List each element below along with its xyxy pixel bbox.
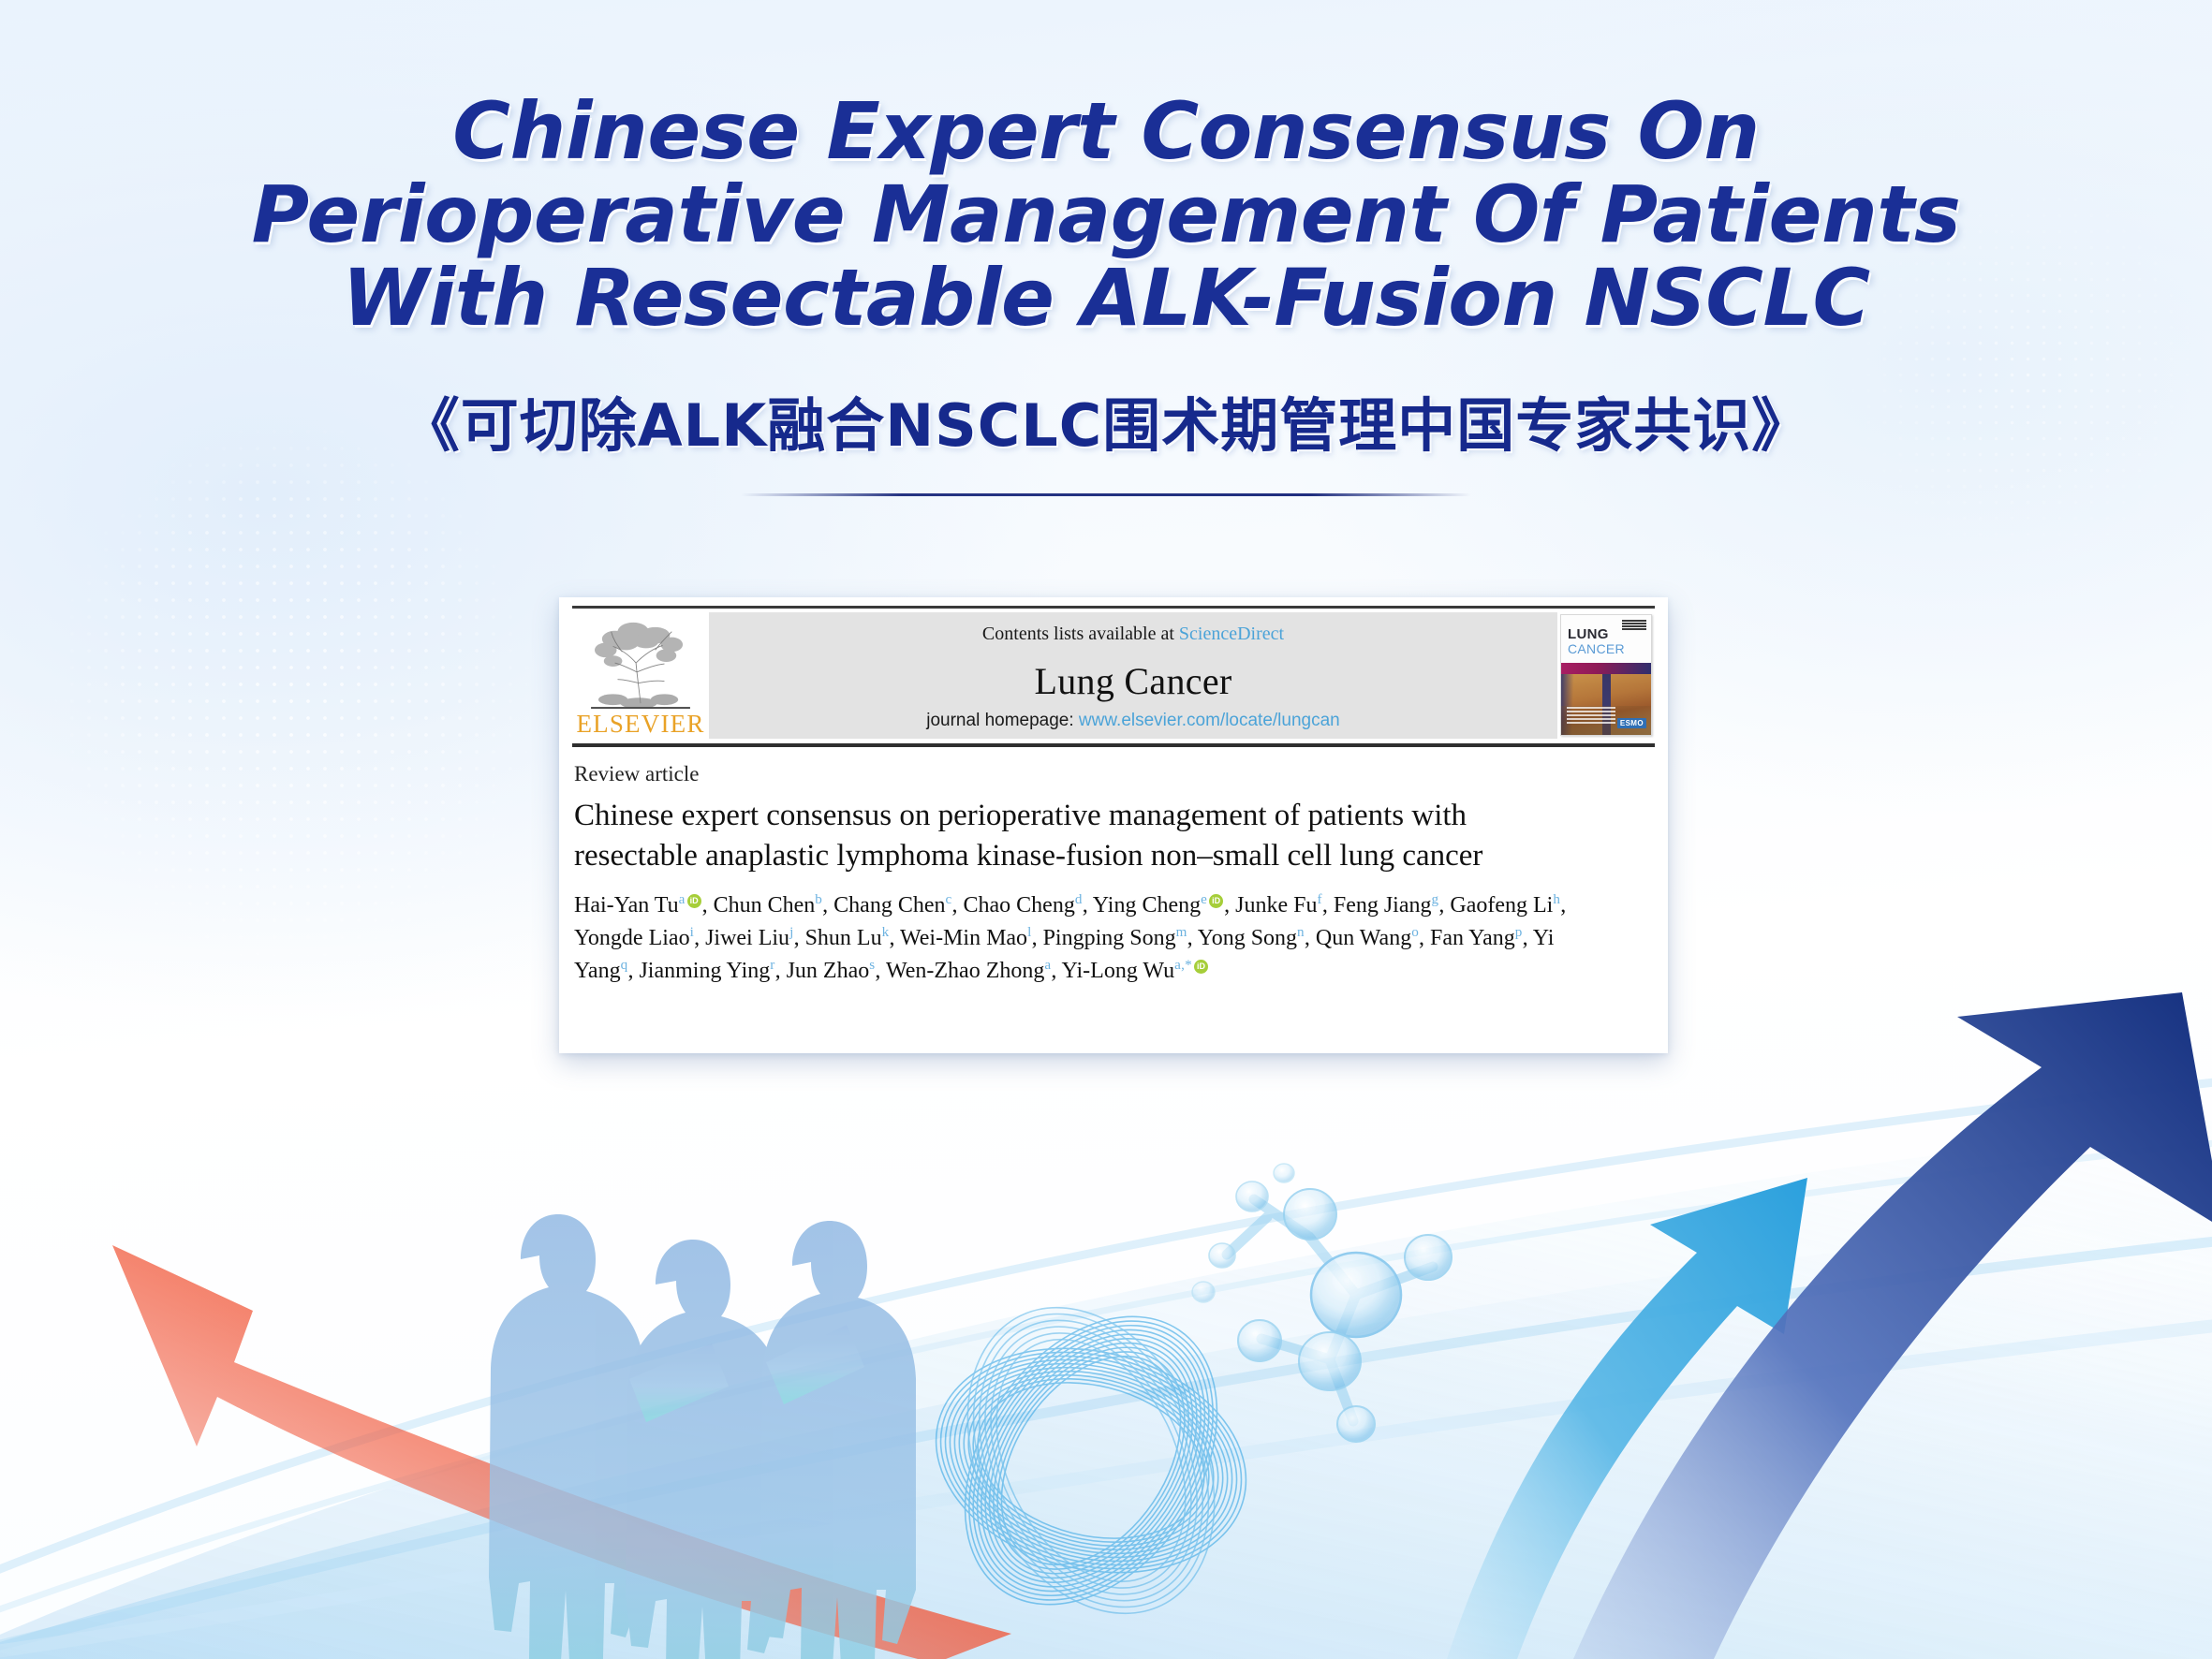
author-entry: Jun Zhaos, <box>787 959 886 983</box>
poster-title-block: Chinese Expert Consensus On Perioperativ… <box>0 90 2212 496</box>
author-affiliation-marker: a <box>679 892 686 907</box>
author-entry: Chang Chenc, <box>833 893 963 918</box>
author-name: Pingping Song <box>1043 926 1176 950</box>
header-bottom-rule <box>572 743 1655 747</box>
cover-title-line1: LUNG <box>1568 627 1609 641</box>
journal-cover-block: LUNG CANCER ESMO <box>1557 612 1655 739</box>
author-entry: Feng Jiangg, <box>1334 893 1451 918</box>
author-affiliation-marker: a <box>1044 958 1051 973</box>
author-affiliation-marker: p <box>1515 925 1523 940</box>
article-type-label: Review article <box>574 762 699 786</box>
author-affiliation-marker: j <box>789 925 794 940</box>
author-entry: Wen-Zhao Zhonga, <box>886 959 1061 983</box>
cover-title-line2: CANCER <box>1568 642 1625 655</box>
page-title-chinese: 《可切除ALK融合NSCLC围术期管理中国专家共识》 <box>0 394 2212 458</box>
author-name: Yong Song <box>1198 926 1297 950</box>
author-affiliation-marker: d <box>1075 892 1083 907</box>
orcid-icon[interactable]: iD <box>1194 960 1208 974</box>
author-entry: Jiwei Liuj, <box>705 926 805 950</box>
author-name: Ying Cheng <box>1093 893 1201 918</box>
author-affiliation-marker: n <box>1297 925 1305 940</box>
author-entry: Pingping Songm, <box>1043 926 1198 950</box>
journal-article-card: ELSEVIER Contents lists available at Sci… <box>559 597 1668 1053</box>
author-affiliation-marker: o <box>1411 925 1419 940</box>
esmo-logo: ESMO <box>1617 718 1646 728</box>
journal-homepage-link[interactable]: www.elsevier.com/locate/lungcan <box>1079 711 1340 730</box>
author-name: Chao Cheng <box>964 893 1075 918</box>
orcid-icon[interactable]: iD <box>687 894 701 908</box>
doctor-silhouette-2 <box>626 1240 781 1659</box>
author-name: Yongde Liao <box>574 926 690 950</box>
author-name: Jun Zhao <box>787 959 870 983</box>
author-entry: Wei-Min Maol, <box>900 926 1043 950</box>
author-affiliation-marker: s <box>869 958 875 973</box>
author-entry: Yongde Liaoi, <box>574 926 705 950</box>
author-affiliation-marker: g <box>1432 892 1439 907</box>
author-affiliation-marker: r <box>770 958 774 973</box>
author-affiliation-marker: a,* <box>1174 958 1192 973</box>
author-name: Hai-Yan Tu <box>574 893 679 918</box>
contents-prefix: Contents lists available at <box>982 624 1174 644</box>
author-name: Chun Chen <box>714 893 816 918</box>
elsevier-logo-block: ELSEVIER <box>572 612 709 739</box>
doctor-silhouette-1 <box>489 1214 644 1659</box>
cover-barcode-icon <box>1622 620 1646 631</box>
author-entry: Yi-Long Wua,*iD <box>1061 959 1209 983</box>
author-list: Hai-Yan TuaiD, Chun Chenb, Chang Chenc, … <box>574 889 1585 988</box>
cover-caption-lines <box>1567 707 1615 726</box>
author-name: Gaofeng Li <box>1450 893 1553 918</box>
author-entry: Chao Chengd, <box>964 893 1093 918</box>
author-affiliation-marker: c <box>945 892 951 907</box>
elsevier-wordmark: ELSEVIER <box>576 712 704 737</box>
author-name: Chang Chen <box>833 893 945 918</box>
author-entry: Gaofeng Lih, <box>1450 893 1566 918</box>
author-affiliation-marker: m <box>1176 925 1187 940</box>
author-entry: Shun Luk, <box>805 926 900 950</box>
journal-banner: Contents lists available at ScienceDirec… <box>709 612 1557 739</box>
doctor-silhouette-3 <box>760 1221 916 1659</box>
poster-stage: Chinese Expert Consensus On Perioperativ… <box>0 0 2212 1659</box>
author-name: Shun Lu <box>805 926 882 950</box>
homepage-prefix: journal homepage: <box>926 711 1073 730</box>
author-affiliation-marker: f <box>1318 892 1322 907</box>
page-title-english: Chinese Expert Consensus On Perioperativ… <box>0 90 2212 340</box>
author-affiliation-marker: h <box>1553 892 1560 907</box>
author-entry: Junke Fuf, <box>1235 893 1334 918</box>
author-name: Feng Jiang <box>1334 893 1432 918</box>
author-entry: Fan Yangp, <box>1430 926 1533 950</box>
author-affiliation-marker: l <box>1027 925 1032 940</box>
title-divider <box>741 493 1471 496</box>
journal-homepage-line: journal homepage: www.elsevier.com/locat… <box>709 711 1557 731</box>
author-entry: Jianming Yingr, <box>639 959 786 983</box>
journal-title: Lung Cancer <box>709 659 1557 703</box>
elsevier-tree-icon <box>584 619 697 711</box>
header-top-rule <box>572 606 1655 609</box>
author-affiliation-marker: k <box>882 925 890 940</box>
author-name: Junke Fu <box>1235 893 1317 918</box>
journal-header: ELSEVIER Contents lists available at Sci… <box>572 612 1655 739</box>
doctor-silhouettes <box>489 1214 916 1659</box>
author-name: Fan Yang <box>1430 926 1515 950</box>
author-affiliation-marker: i <box>690 925 695 940</box>
author-name: Wen-Zhao Zhong <box>886 959 1044 983</box>
author-entry: Yong Songn, <box>1198 926 1316 950</box>
author-entry: Hai-Yan TuaiD, <box>574 893 714 918</box>
author-affiliation-marker: q <box>621 958 628 973</box>
journal-cover-thumbnail: LUNG CANCER ESMO <box>1560 614 1652 736</box>
sciencedirect-link[interactable]: ScienceDirect <box>1179 624 1284 644</box>
author-entry: Qun Wango, <box>1316 926 1430 950</box>
author-entry: Ying ChengeiD, <box>1093 893 1235 918</box>
author-name: Wei-Min Mao <box>900 926 1027 950</box>
author-affiliation-marker: b <box>815 892 822 907</box>
author-affiliation-marker: e <box>1201 892 1207 907</box>
author-name: Qun Wang <box>1316 926 1411 950</box>
author-entry: Chun Chenb, <box>714 893 834 918</box>
article-title: Chinese expert consensus on perioperativ… <box>574 796 1511 876</box>
sciencedirect-line: Contents lists available at ScienceDirec… <box>709 624 1557 645</box>
author-name: Yi-Long Wu <box>1061 959 1174 983</box>
author-name: Jiwei Liu <box>705 926 789 950</box>
orcid-icon[interactable]: iD <box>1209 894 1223 908</box>
author-name: Jianming Ying <box>639 959 770 983</box>
